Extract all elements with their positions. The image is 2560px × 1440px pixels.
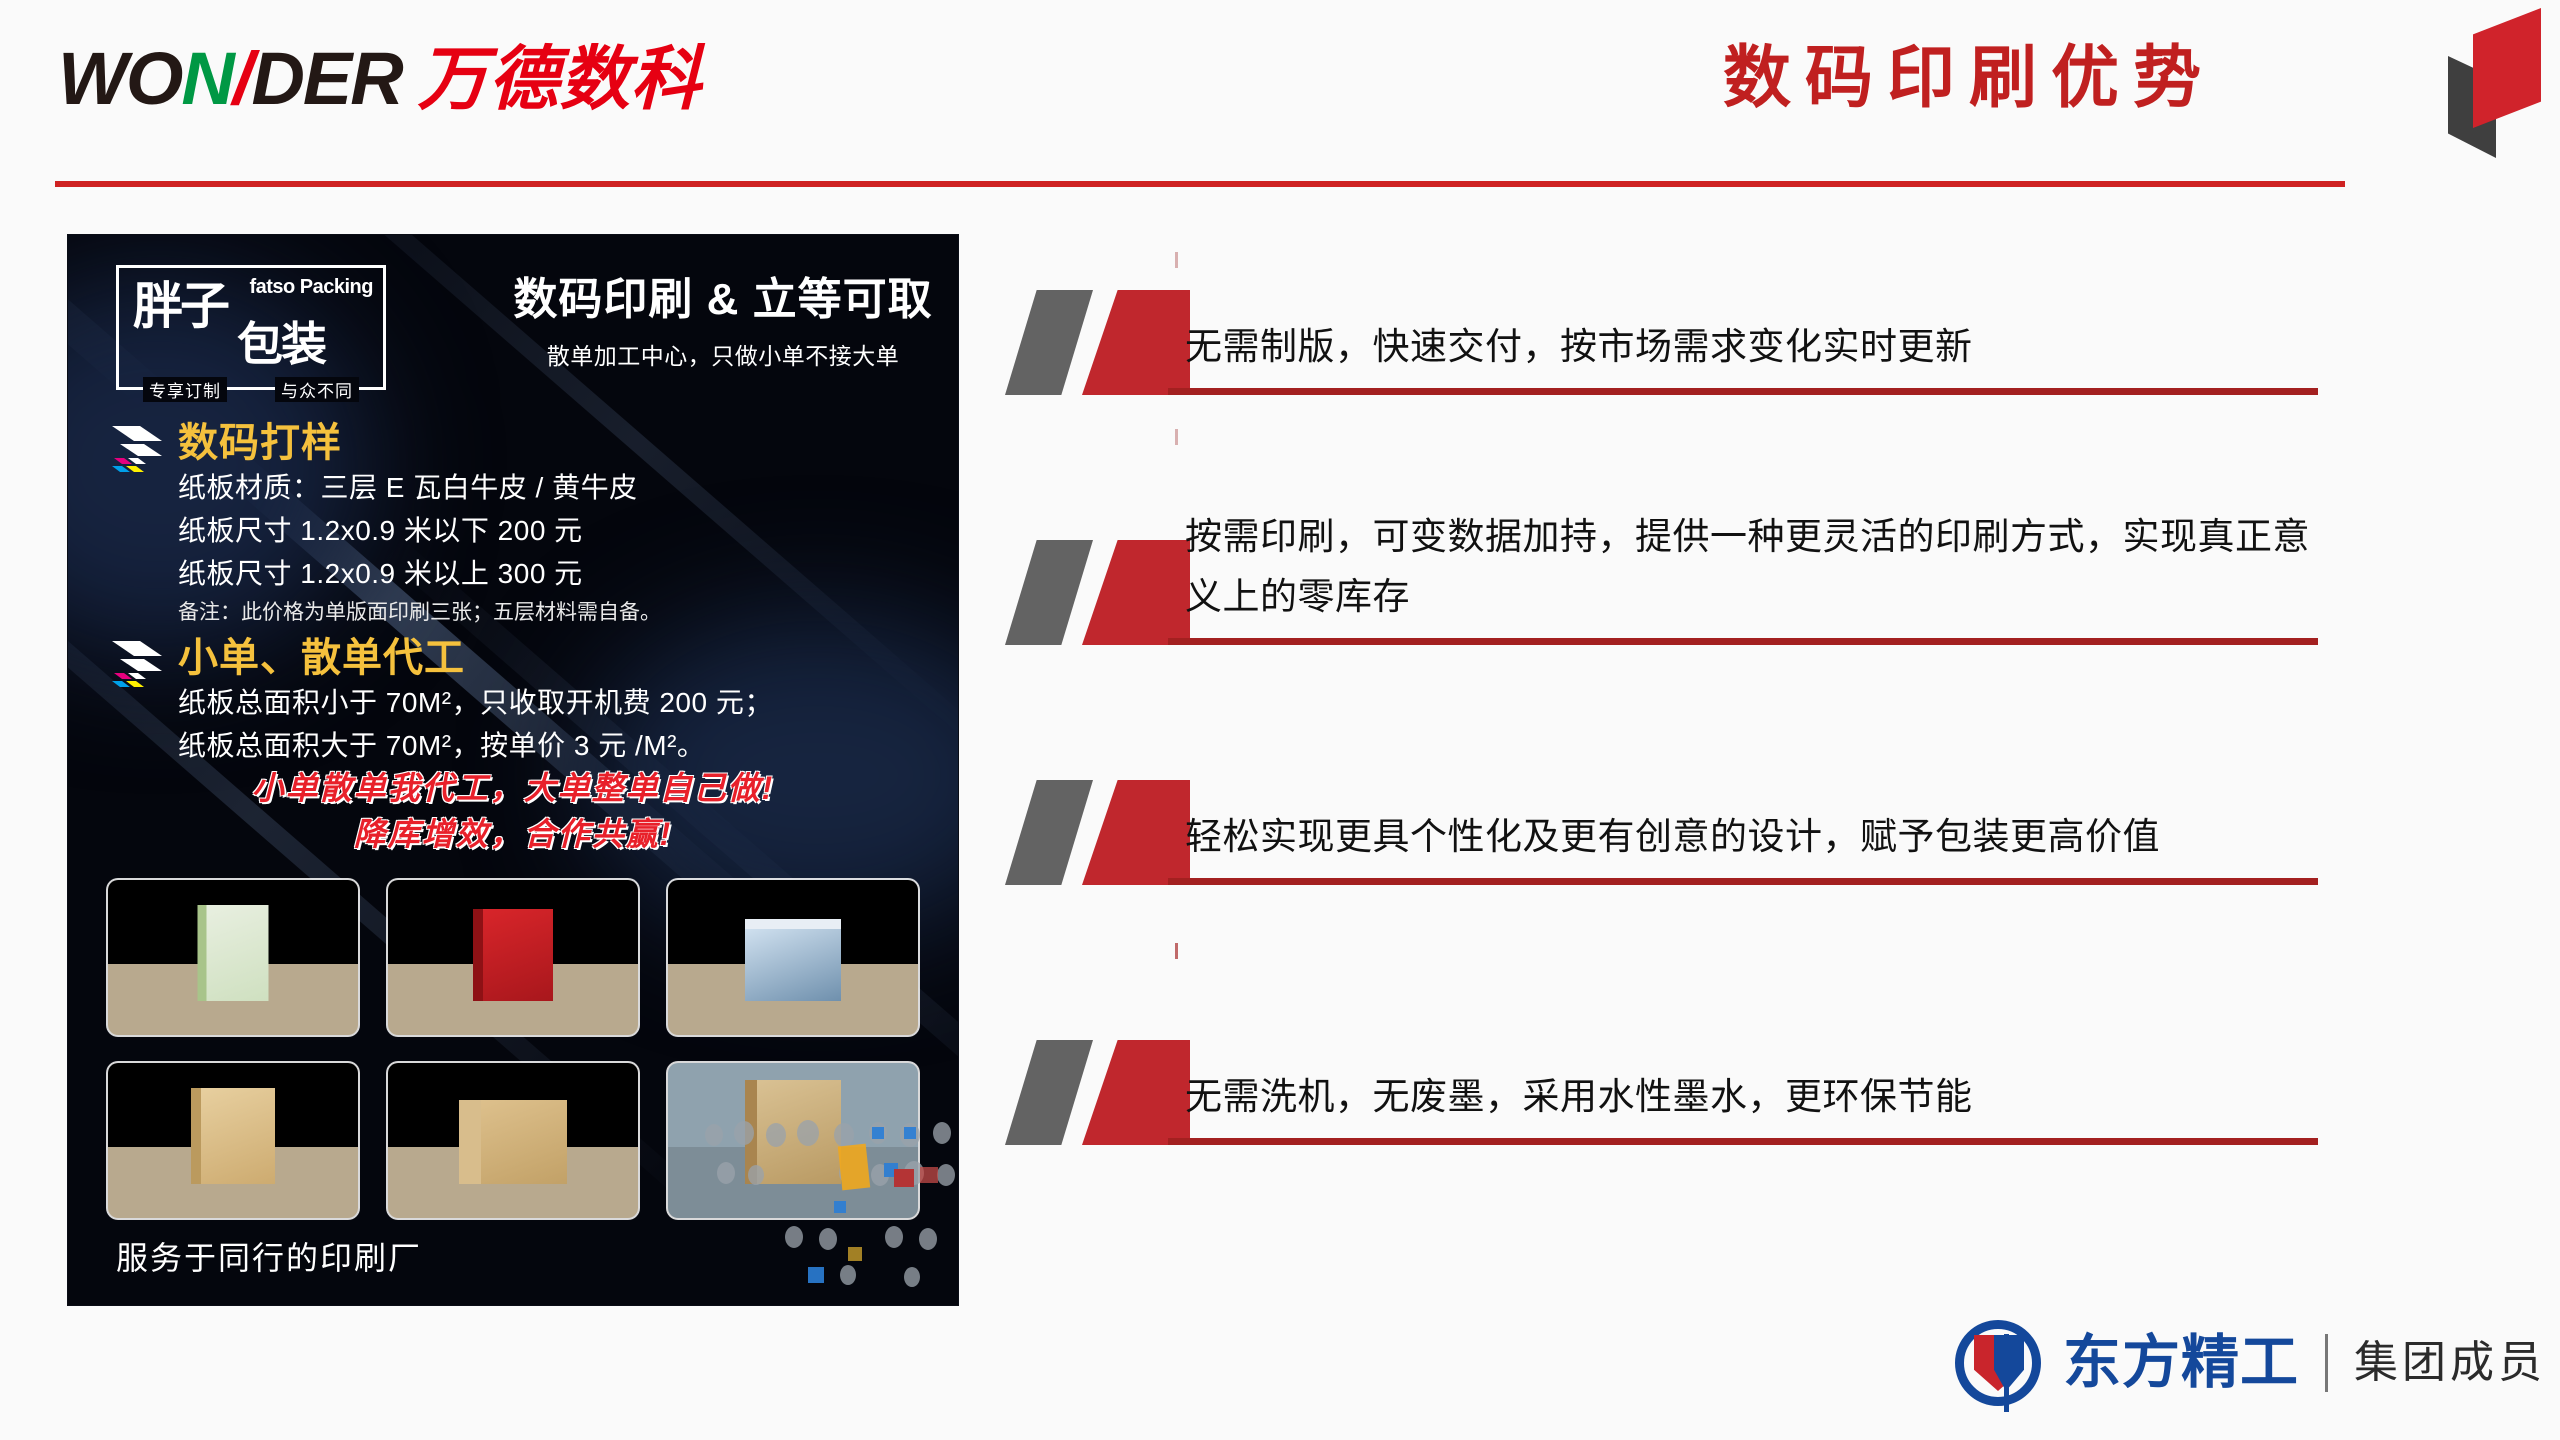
fatso-tagline-right: 与众不同	[275, 377, 359, 402]
section-note: 备注：此价格为单版面印刷三张；五层材料需自备。	[178, 595, 661, 631]
poster-slogan-line-1: 小单散单我代工，大单整单自己做!	[68, 765, 958, 811]
section-line: 纸板材质：三层 E 瓦白牛皮 / 黄牛皮	[178, 466, 661, 509]
poster-footer-text: 服务于同行的印刷厂	[116, 1233, 422, 1279]
bullet-marker-icon	[1000, 1040, 1190, 1145]
advantages-list: 无需制版，快速交付，按市场需求变化实时更新 按需印刷，可变数据加持，提供一种更灵…	[1000, 250, 2400, 1145]
section-line: 纸板尺寸 1.2x0.9 米以上 300 元	[178, 552, 661, 595]
list-item-underline	[1168, 878, 2318, 885]
bullet-marker-red	[1082, 290, 1190, 395]
bullet-tick-mark	[1175, 943, 1178, 959]
emblem-vertical-bar	[2004, 1334, 2009, 1412]
bullet-marker-gray	[1005, 1040, 1093, 1145]
corner-flag-red-shape	[2473, 8, 2541, 128]
product-photo	[108, 880, 358, 1035]
list-item-text: 无需制版，快速交付，按市场需求变化实时更新	[1185, 317, 2345, 377]
logo-divider	[2325, 1334, 2328, 1392]
dongfang-emblem-icon	[1955, 1320, 2041, 1406]
list-item[interactable]: 按需印刷，可变数据加持，提供一种更灵活的印刷方式，实现真正意义上的零库存	[1000, 395, 2400, 645]
poster-section-small-orders: 小单、散单代工 纸板总面积小于 70M²，只收取开机费 200 元； 纸板总面积…	[178, 635, 773, 767]
fatso-tagline-left: 专享订制	[143, 377, 227, 402]
section-title: 小单、散单代工	[178, 635, 773, 681]
section-line: 纸板总面积大于 70M²，按单价 3 元 /M²。	[178, 724, 773, 767]
list-item-text: 无需洗机，无废墨，采用水性墨水，更环保节能	[1185, 1067, 2345, 1127]
list-item-text: 轻松实现更具个性化及更有创意的设计，赋予包装更高价值	[1185, 807, 2345, 867]
fatso-logo-english: fatso Packing	[249, 276, 373, 299]
bullet-marker-icon	[1000, 540, 1190, 645]
header-divider-rule	[55, 181, 2345, 187]
list-item-underline	[1168, 638, 2318, 645]
bullet-marker-gray	[1005, 540, 1093, 645]
bullet-marker-icon	[1000, 780, 1190, 885]
bullet-marker-gray	[1005, 290, 1093, 395]
brand-letter-slash: /	[233, 37, 252, 120]
brand-letters-der: DER	[251, 37, 401, 120]
product-photo	[388, 1063, 638, 1218]
section-line: 纸板总面积小于 70M²，只收取开机费 200 元；	[178, 681, 773, 724]
poster-slogan-line-2: 降库增效，合作共赢!	[68, 811, 958, 857]
group-member-label: 集团成员	[2354, 1338, 2546, 1388]
poster-headline-block: 数码印刷 & 立等可取 散单加工中心，只做小单不接大单	[513, 273, 933, 371]
product-photo	[668, 880, 918, 1035]
poster-section-digital-proofing: 数码打样 纸板材质：三层 E 瓦白牛皮 / 黄牛皮 纸板尺寸 1.2x0.9 米…	[178, 420, 661, 631]
page-title: 数码印刷优势	[1723, 38, 2215, 118]
group-member-logo: 东方精工 集团成员	[1955, 1318, 2546, 1408]
bullet-tick-mark	[1175, 252, 1178, 268]
brand-letter-w: W	[58, 37, 126, 120]
section-line: 纸板尺寸 1.2x0.9 米以下 200 元	[178, 509, 661, 552]
fatso-logo-taglines: 专享订制 与众不同	[119, 377, 383, 402]
product-photo	[388, 880, 638, 1035]
poster-image: 胖子 fatso Packing 包装 专享订制 与众不同 数码印刷 & 立等可…	[68, 235, 958, 1305]
chevron-marker-icon	[110, 639, 168, 691]
poster-headline: 数码印刷 & 立等可取	[513, 273, 933, 327]
brand-wordmark: WON/DER	[58, 40, 402, 118]
bullet-marker-red	[1082, 780, 1190, 885]
dot-pattern-decoration	[698, 1115, 958, 1305]
product-photo	[108, 1063, 358, 1218]
list-item-underline	[1168, 1138, 2318, 1145]
poster-subheadline: 散单加工中心，只做小单不接大单	[513, 337, 933, 371]
slide-header: WON/DER 万德数科 数码印刷优势	[0, 0, 2560, 200]
corner-flag-icon	[2448, 8, 2548, 168]
fatso-logo-chinese: 胖子	[133, 280, 227, 332]
bullet-marker-gray	[1005, 780, 1093, 885]
brand-chinese-name: 万德数科	[418, 40, 702, 118]
brand-letter-n: N	[181, 37, 232, 120]
list-item-text: 按需印刷，可变数据加持，提供一种更灵活的印刷方式，实现真正意义上的零库存	[1185, 507, 2345, 627]
section-title: 数码打样	[178, 420, 661, 466]
list-item-underline	[1168, 388, 2318, 395]
fatso-logo-baozhuang: 包装	[237, 320, 325, 368]
wonder-brand-logo: WON/DER 万德数科	[58, 40, 702, 118]
bullet-tick-mark	[1175, 429, 1178, 445]
fatso-packing-logo: 胖子 fatso Packing 包装 专享订制 与众不同	[116, 265, 386, 390]
chevron-marker-icon	[110, 424, 168, 476]
list-item[interactable]: 无需洗机，无废墨，采用水性墨水，更环保节能	[1000, 885, 2400, 1145]
bullet-marker-icon	[1000, 290, 1190, 395]
list-item[interactable]: 轻松实现更具个性化及更有创意的设计，赋予包装更高价值	[1000, 645, 2400, 885]
list-item[interactable]: 无需制版，快速交付，按市场需求变化实时更新	[1000, 250, 2400, 395]
bullet-marker-red	[1082, 1040, 1190, 1145]
brand-letter-o: O	[126, 37, 182, 120]
bullet-marker-red	[1082, 540, 1190, 645]
company-name: 东方精工	[2063, 1332, 2299, 1394]
